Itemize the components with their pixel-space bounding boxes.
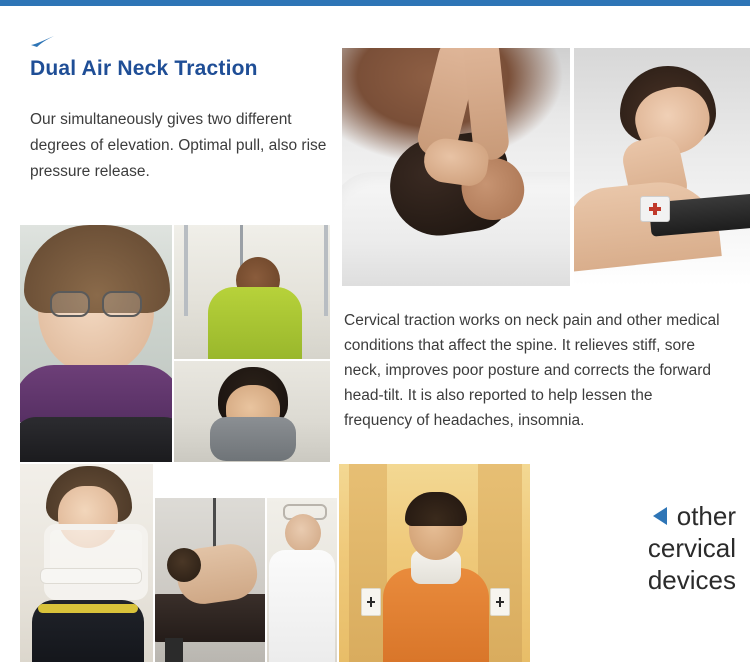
caption-text-cervical: cervical — [556, 532, 736, 564]
top-accent-rule — [0, 0, 750, 6]
person-on-bench-with-pulley-photo — [155, 498, 265, 662]
caption-line-1: other — [556, 500, 736, 532]
other-cervical-devices-caption: other cervical devices — [556, 500, 736, 596]
top-photo-strip — [342, 48, 750, 286]
man-in-white-coat-with-head-harness-photo — [267, 498, 337, 662]
body-paragraph: Cervical traction works on neck pain and… — [344, 308, 724, 433]
triangle-left-icon — [653, 507, 667, 525]
product-detail-page: Dual Air Neck Traction Our simultaneousl… — [0, 0, 750, 662]
caption-text-other: other — [677, 500, 736, 532]
man-in-orange-shirt-door-traction-photo — [339, 464, 530, 662]
intro-paragraph: Our simultaneously gives two different d… — [30, 107, 346, 185]
bottom-photo-collage — [20, 464, 530, 662]
woman-wearing-head-halter-photo — [20, 464, 153, 662]
middle-photo-collage — [20, 225, 330, 462]
arrow-right-icon — [30, 34, 56, 50]
page-title: Dual Air Neck Traction — [30, 57, 258, 81]
woman-wearing-neck-pillow-photo — [20, 225, 172, 462]
woman-lying-with-air-traction-device-photo — [574, 48, 750, 286]
man-wearing-chin-sling-photo — [174, 361, 330, 462]
man-in-green-shirt-with-overhead-traction-photo — [174, 225, 330, 359]
caption-text-devices: devices — [556, 564, 736, 596]
therapist-hands-neck-traction-photo — [342, 48, 570, 286]
